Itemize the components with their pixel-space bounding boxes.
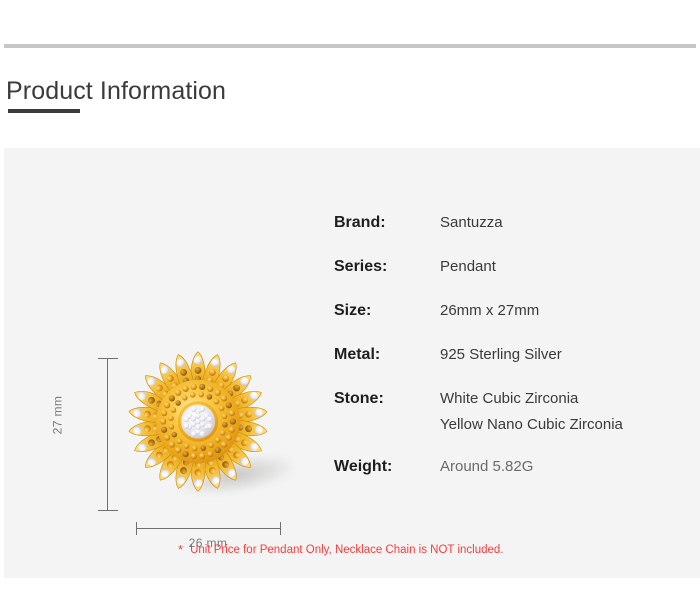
product-visual-block: 27 mm	[44, 248, 304, 568]
gold-daisy-pendant-icon	[118, 344, 278, 499]
top-divider	[4, 44, 696, 48]
spec-row-stone: Stone: White Cubic Zirconia Yellow Nano …	[334, 386, 684, 438]
spec-value-size: 26mm x 27mm	[440, 298, 539, 324]
spec-value-metal: 925 Sterling Silver	[440, 342, 562, 368]
spec-label-weight: Weight:	[334, 454, 440, 480]
footnote-asterisk: *	[178, 542, 183, 557]
width-dimension-cap-left	[136, 522, 137, 535]
pendant-image	[106, 340, 296, 520]
width-dimension-cap-right	[280, 522, 281, 535]
spec-value-stone-line2: Yellow Nano Cubic Zirconia	[440, 412, 623, 438]
spec-value-series: Pendant	[440, 254, 496, 280]
spec-value-stone: White Cubic Zirconia Yellow Nano Cubic Z…	[440, 386, 623, 438]
footnote-text: Unit Price for Pendant Only, Necklace Ch…	[190, 544, 503, 556]
spec-row-metal: Metal: 925 Sterling Silver	[334, 342, 684, 368]
spec-row-brand: Brand: Santuzza	[334, 210, 684, 236]
spec-value-weight: Around 5.82G	[440, 454, 533, 480]
spec-row-series: Series: Pendant	[334, 254, 684, 280]
spec-row-size: Size: 26mm x 27mm	[334, 298, 684, 324]
spec-label-series: Series:	[334, 254, 440, 280]
spec-label-metal: Metal:	[334, 342, 440, 368]
spec-value-stone-line1: White Cubic Zirconia	[440, 386, 623, 412]
title-underline-accent	[8, 109, 80, 113]
spec-row-weight: Weight: Around 5.82G	[334, 454, 684, 480]
spec-value-brand: Santuzza	[440, 210, 503, 236]
width-dimension-line	[136, 528, 280, 529]
specification-list: Brand: Santuzza Series: Pendant Size: 26…	[334, 210, 684, 498]
product-information-panel: 27 mm	[4, 148, 700, 578]
spec-label-brand: Brand:	[334, 210, 440, 236]
price-footnote: *Unit Price for Pendant Only, Necklace C…	[178, 542, 503, 558]
height-dimension-label: 27 mm	[50, 396, 64, 435]
spec-label-stone: Stone:	[334, 386, 440, 412]
spec-label-size: Size:	[334, 298, 440, 324]
page-title: Product Information	[6, 76, 226, 106]
